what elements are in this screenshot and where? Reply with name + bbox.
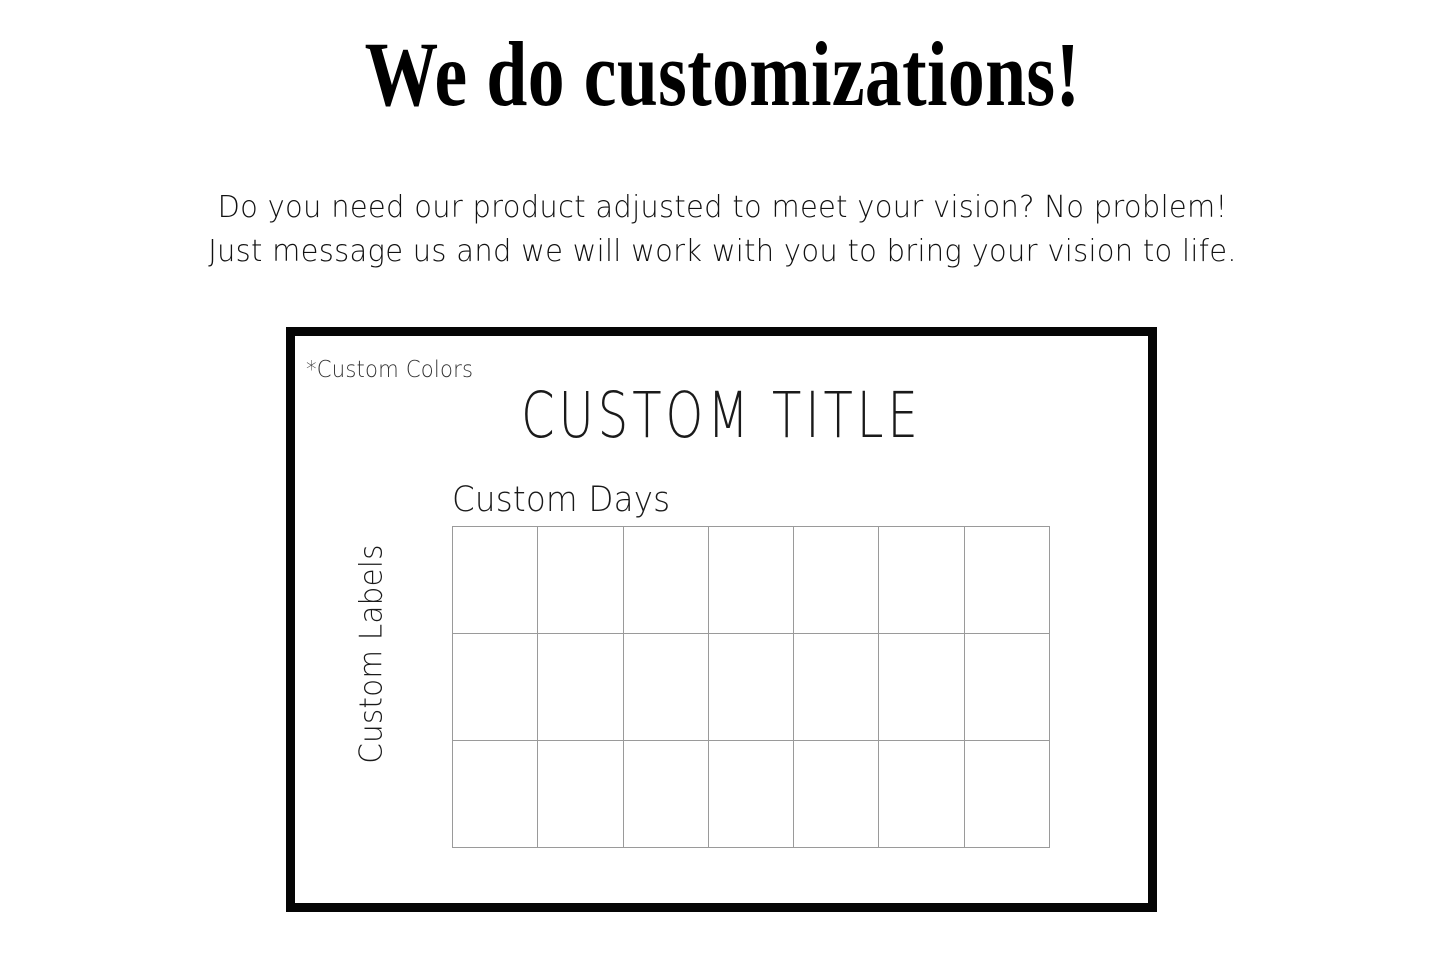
intro-paragraph: Do you need our product adjusted to meet… [0,186,1445,274]
grid-cell[interactable] [794,527,879,634]
grid-cell[interactable] [965,634,1050,741]
custom-colors-note: *Custom Colors [306,359,473,382]
grid-cell[interactable] [538,741,623,848]
grid-cell[interactable] [538,527,623,634]
grid-cell[interactable] [453,741,538,848]
columns-axis-label: Custom Days [452,483,670,518]
mockup-grid [452,526,1050,848]
rows-axis-label: Custom Labels [357,545,388,764]
grid-cell[interactable] [453,527,538,634]
grid-cell[interactable] [794,634,879,741]
grid-cell[interactable] [709,527,794,634]
intro-line-1: Do you need our product adjusted to meet… [25,186,1419,230]
grid-cell[interactable] [709,634,794,741]
page-canvas: We do customizations! Do you need our pr… [0,0,1445,967]
product-mockup-canvas: *Custom Colors CUSTOM TITLE Custom Days … [295,336,1148,903]
page-title: We do customizations! [145,26,1301,123]
grid-cell[interactable] [624,527,709,634]
grid-cell[interactable] [965,527,1050,634]
grid-cell[interactable] [879,741,964,848]
grid-cell[interactable] [709,741,794,848]
grid-cell[interactable] [453,634,538,741]
grid-cell[interactable] [624,741,709,848]
mockup-title: CUSTOM TITLE [380,384,1062,449]
product-mockup-frame: *Custom Colors CUSTOM TITLE Custom Days … [286,327,1157,912]
grid-cell[interactable] [965,741,1050,848]
grid-cell[interactable] [624,634,709,741]
grid-cell[interactable] [879,527,964,634]
intro-line-2: Just message us and we will work with yo… [25,230,1419,274]
grid-cell[interactable] [879,634,964,741]
grid-cell[interactable] [794,741,879,848]
grid-cell[interactable] [538,634,623,741]
